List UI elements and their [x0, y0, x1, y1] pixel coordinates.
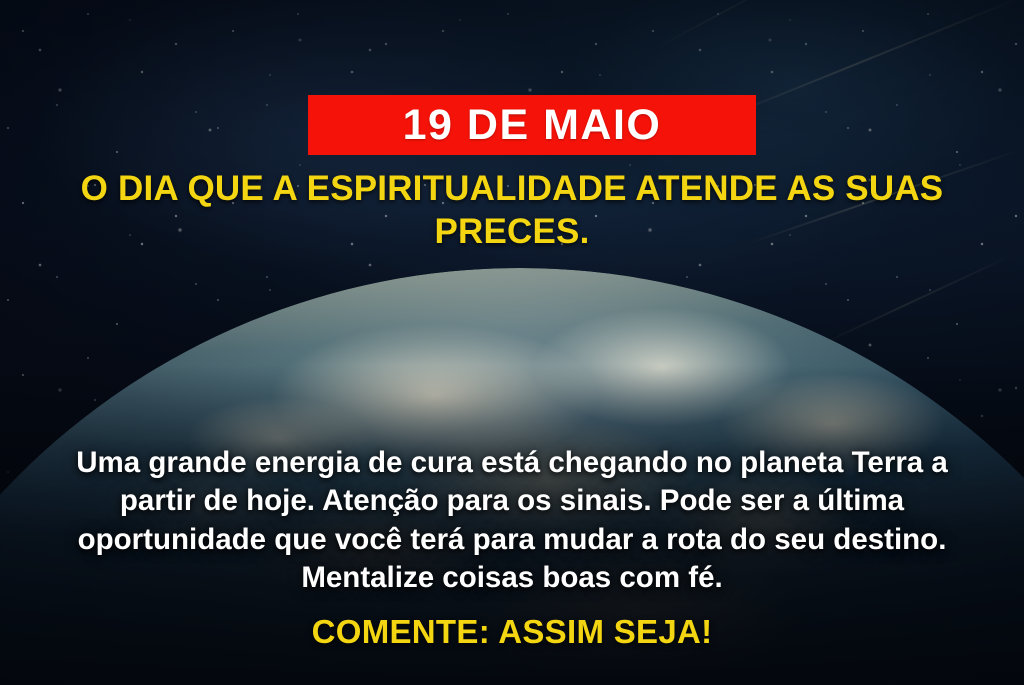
body-paragraph: Uma grande energia de cura está chegando… — [0, 444, 1024, 597]
poster-canvas: 19 DE MAIO O DIA QUE A ESPIRITUALIDADE A… — [0, 0, 1024, 685]
poster-content: 19 DE MAIO O DIA QUE A ESPIRITUALIDADE A… — [0, 0, 1024, 685]
headline-text: O DIA QUE A ESPIRITUALIDADE ATENDE AS SU… — [0, 168, 1024, 253]
date-banner: 19 DE MAIO — [308, 95, 756, 155]
call-to-action-text: COMENTE: ASSIM SEJA! — [0, 614, 1024, 650]
date-banner-label: 19 DE MAIO — [403, 104, 662, 147]
